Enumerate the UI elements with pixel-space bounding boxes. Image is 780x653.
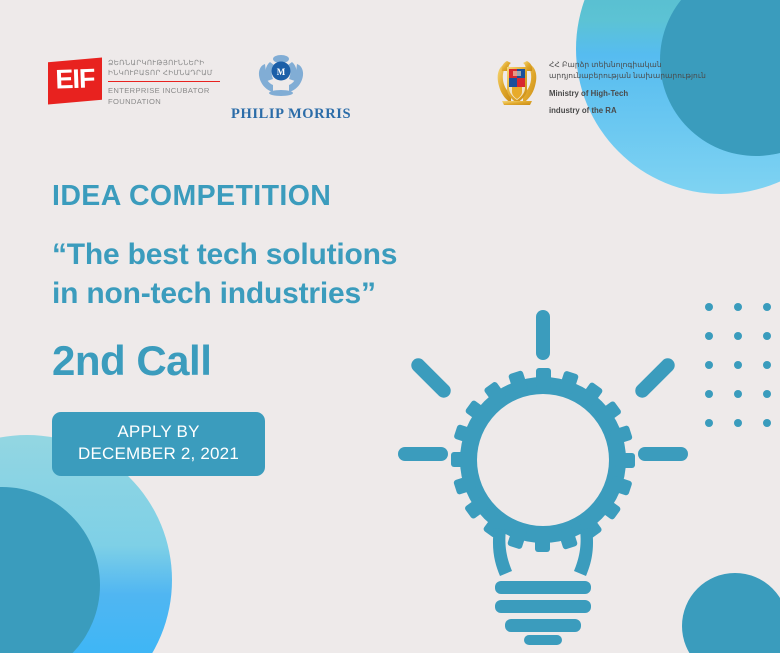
ministry-armenian-line-1: ՀՀ Բարձր տեխնոլոգիական xyxy=(549,59,706,70)
decorative-dot xyxy=(734,361,742,369)
ministry-armenian-line-2: արդյունաբերության նախարարություն xyxy=(549,70,706,81)
decorative-dot xyxy=(763,303,771,311)
eif-armenian-line-1: ՁԵՌՆԱՐԿՈՒԹՅՈՒՆՆԵՐԻ xyxy=(108,58,220,68)
ministry-wordmark: ՀՀ Բարձր տեխնոլոգիական արդյունաբերության… xyxy=(549,54,706,117)
svg-text:M: M xyxy=(277,67,286,77)
decorative-dot xyxy=(705,361,713,369)
decorative-dot xyxy=(734,419,742,427)
logo-eif: EIF ՁԵՌՆԱՐԿՈՒԹՅՈՒՆՆԵՐԻ ԻՆԿՈՒԲԱՏՈՐ ՀԻՄՆԱԴ… xyxy=(48,56,220,108)
decorative-dot xyxy=(763,390,771,398)
ministry-english-line-1: Ministry of High-Tech xyxy=(549,88,706,100)
apply-button-line-2: DECEMBER 2, 2021 xyxy=(78,443,239,465)
armenia-coat-of-arms-icon xyxy=(494,54,540,110)
decorative-dot xyxy=(763,361,771,369)
eif-mark-label: EIF xyxy=(48,63,102,96)
decorative-dot xyxy=(705,390,713,398)
apply-button-line-1: APPLY BY xyxy=(78,421,239,443)
decorative-dot xyxy=(705,303,713,311)
poster-canvas: EIF ՁԵՌՆԱՐԿՈՒԹՅՈՒՆՆԵՐԻ ԻՆԿՈՒԲԱՏՈՐ ՀԻՄՆԱԴ… xyxy=(0,0,780,653)
eif-english-line-2: FOUNDATION xyxy=(108,96,220,107)
eif-wordmark: ՁԵՌՆԱՐԿՈՒԹՅՈՒՆՆԵՐԻ ԻՆԿՈՒԲԱՏՈՐ ՀԻՄՆԱԴՐԱՄ … xyxy=(108,56,220,107)
philip-morris-wordmark: PHILIP MORRIS xyxy=(231,106,331,123)
logo-philip-morris: M PHILIP MORRIS xyxy=(231,52,331,123)
eif-divider xyxy=(108,81,220,82)
decorative-circle-bottom-right xyxy=(682,573,780,653)
decorative-dot xyxy=(705,419,713,427)
decorative-dot xyxy=(705,332,713,340)
eif-mark-icon: EIF xyxy=(48,56,102,108)
logo-row: EIF ՁԵՌՆԱՐԿՈՒԹՅՈՒՆՆԵՐԻ ԻՆԿՈՒԲԱՏՈՐ ՀԻՄՆԱԴ… xyxy=(0,52,780,122)
decorative-dot xyxy=(734,303,742,311)
page-title: IDEA COMPETITION xyxy=(52,182,482,211)
decorative-dot xyxy=(734,332,742,340)
decorative-dot xyxy=(734,390,742,398)
decorative-dot xyxy=(763,332,771,340)
decorative-dot-grid xyxy=(705,303,780,448)
eif-armenian-line-2: ԻՆԿՈՒԲԱՏՈՐ ՀԻՄՆԱԴՐԱՄ xyxy=(108,68,220,78)
tagline-line-1: “The best tech solutions xyxy=(52,235,482,275)
eif-english-line-1: ENTERPRISE INCUBATOR xyxy=(108,85,220,96)
ministry-english-line-2: industry of the RA xyxy=(549,105,706,117)
decorative-dot xyxy=(763,419,771,427)
philip-morris-crest-icon: M xyxy=(255,52,307,98)
logo-ministry-high-tech: ՀՀ Բարձր տեխնոլոգիական արդյունաբերության… xyxy=(494,54,706,117)
apply-by-button[interactable]: APPLY BY DECEMBER 2, 2021 xyxy=(52,412,265,476)
lightbulb-gear-icon xyxy=(398,300,688,645)
